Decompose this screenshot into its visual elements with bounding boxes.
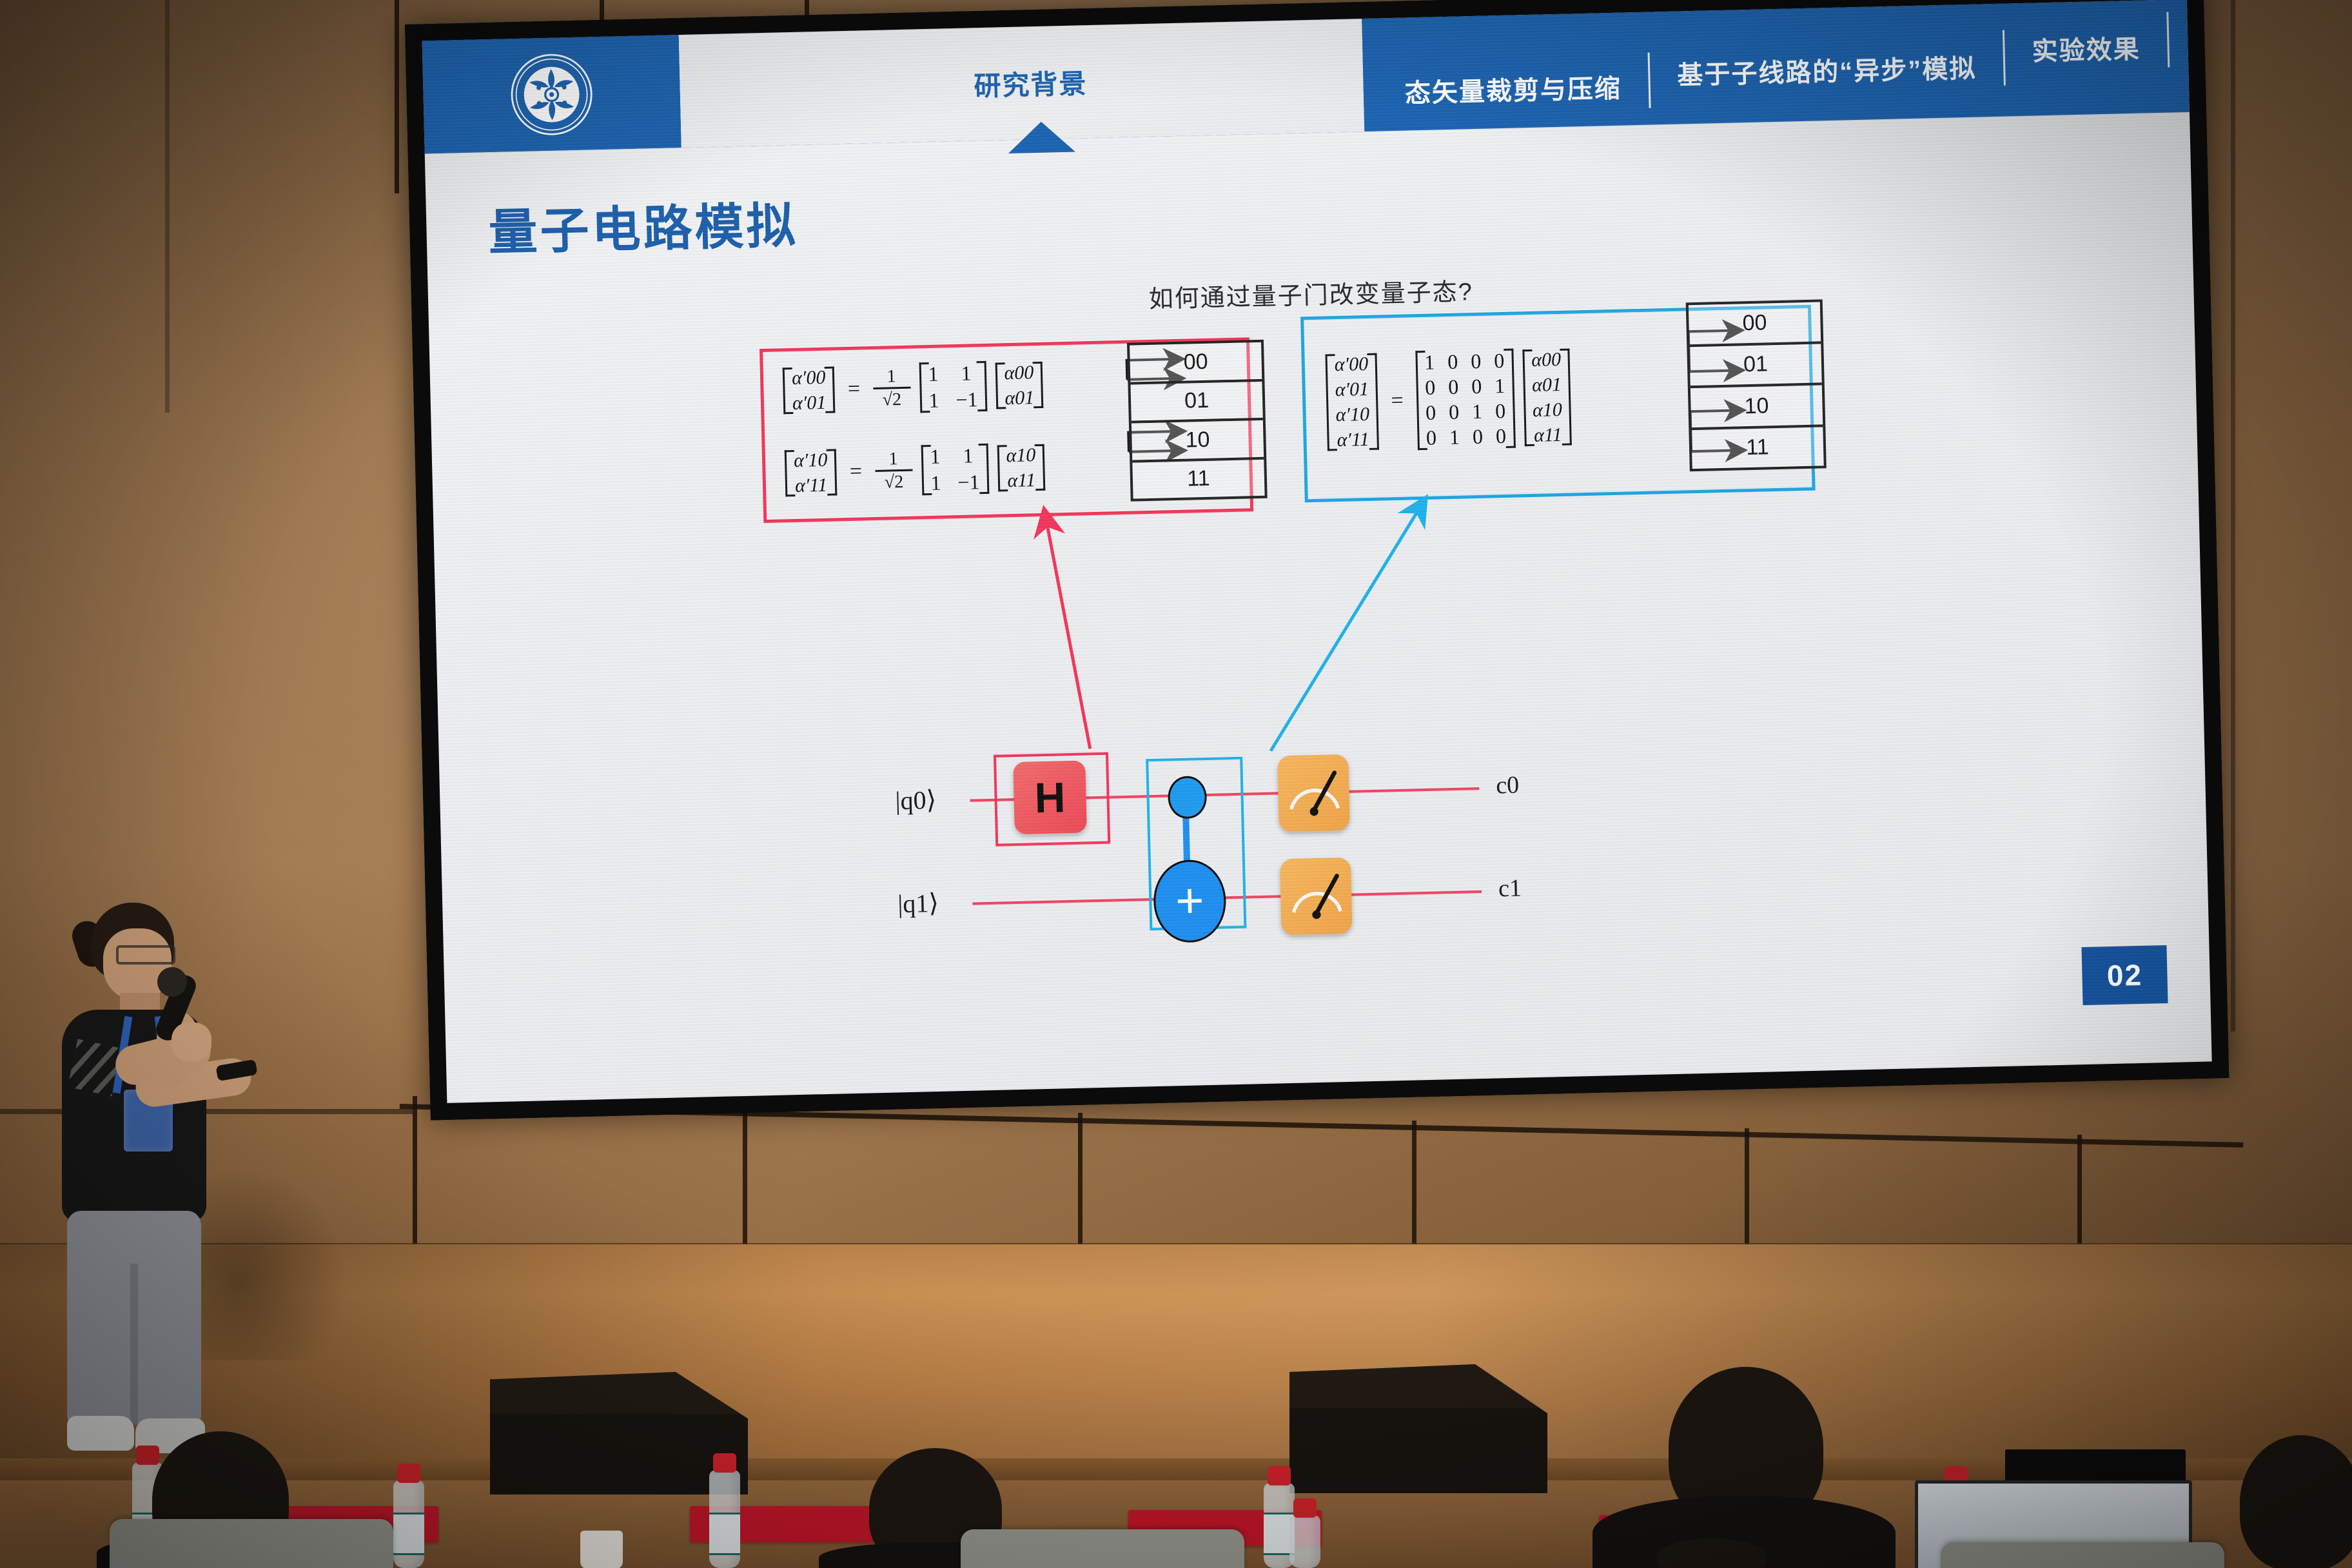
matrix-cell: 0: [1473, 425, 1484, 449]
presentation-slide: 研究背景 态矢量裁剪与压缩 基于子线路的“异步”模拟 实验效果 未来工作展望 量…: [422, 0, 2212, 1103]
fraction-denominator: √2: [884, 471, 903, 492]
bottle-cap: [713, 1453, 736, 1473]
wall-panel-seam: [165, 0, 170, 413]
matrix-cell: −1: [955, 387, 978, 412]
wall-panel-seam: [1412, 1121, 1416, 1262]
alpha-prime-01: α′01: [1335, 378, 1369, 400]
hadamard-gate[interactable]: H: [1013, 760, 1087, 834]
rhs-vector: α00 α01: [995, 362, 1043, 409]
classical-reg-c0-label: c0: [1496, 771, 1520, 800]
slide-nav-tabs: 态矢量裁剪与压缩 基于子线路的“异步”模拟 实验效果 未来工作展望: [1369, 0, 2190, 132]
bottle-label: [393, 1513, 424, 1555]
presenter-leg-gap: [130, 1264, 138, 1425]
water-bottle: [393, 1480, 424, 1568]
matrix-cell: 0: [1425, 376, 1436, 400]
state-row: 10: [1690, 385, 1823, 429]
fraction-denominator: √2: [882, 389, 901, 409]
matrix-cell: 0: [1426, 426, 1437, 449]
bottle-cap: [397, 1464, 420, 1483]
one-over-sqrt-two: 1 √2: [872, 367, 910, 409]
alpha-prime-11: α′11: [1337, 429, 1369, 451]
alpha-prime-01: α′01: [792, 392, 827, 414]
hadamard-matrix: 1 1 1 −1: [921, 444, 989, 495]
alpha-00: α00: [1004, 362, 1034, 384]
qubit-0-label: |q0⟩: [895, 785, 937, 816]
alpha-prime-00: α′00: [1334, 353, 1368, 375]
matrix-cell: 1: [1494, 374, 1505, 398]
equals-sign: =: [845, 459, 866, 484]
fraction-numerator: 1: [887, 367, 896, 387]
projection-screen: 研究背景 态矢量裁剪与压缩 基于子线路的“异步”模拟 实验效果 未来工作展望 量…: [405, 0, 2229, 1121]
water-bottle: [1289, 1515, 1320, 1568]
state-row: 10: [1132, 420, 1264, 462]
matrix-cell: −1: [957, 470, 980, 495]
cnot-matrix: 1 0 0 0 0 0 0 1 0 0 1 0 0: [1415, 349, 1516, 451]
qubit-1-label: |q1⟩: [897, 888, 939, 919]
alpha-00: α00: [1531, 349, 1562, 371]
equals-sign: =: [843, 377, 864, 402]
presenter-hand: [171, 1023, 211, 1061]
matrix-cell: 1: [963, 444, 974, 467]
alpha-01: α01: [1532, 374, 1562, 396]
lhs-vector: α′00 α′01: [783, 366, 836, 414]
alpha-11: α11: [1534, 424, 1562, 446]
state-row: 01: [1689, 344, 1821, 388]
state-row: 11: [1132, 459, 1264, 498]
hadamard-gate-label: H: [1034, 772, 1066, 822]
matrix-cell: 0: [1471, 349, 1482, 373]
bottle-cap: [136, 1445, 159, 1465]
fraction-numerator: 1: [888, 450, 898, 469]
wall-panel-seam: [1078, 1113, 1083, 1261]
slide-title: 量子电路模拟: [487, 186, 798, 264]
water-bottle: [709, 1470, 740, 1568]
presenter: [39, 903, 251, 1464]
measure-gate-q0[interactable]: [1277, 754, 1350, 832]
chair-back: [1941, 1542, 2224, 1568]
presenter-shoe: [67, 1416, 134, 1451]
alpha-10: α10: [1533, 399, 1563, 421]
state-row: 01: [1130, 381, 1262, 423]
meter-icon: [1277, 754, 1350, 832]
active-tab-caret-icon: [1008, 121, 1075, 153]
meter-icon: [1280, 857, 1353, 936]
classical-reg-c1-label: c1: [1498, 874, 1522, 903]
matrix-cell: 0: [1448, 375, 1459, 399]
alpha-prime-00: α′00: [792, 367, 826, 389]
alpha-11: α11: [1007, 469, 1035, 491]
chair-back: [961, 1529, 1244, 1568]
lhs-vector: α′10 α′11: [785, 449, 838, 496]
chair-back: [110, 1519, 393, 1568]
bottle-cap: [1293, 1498, 1317, 1518]
rhs-vector: α00 α01 α10 α11: [1522, 349, 1572, 447]
cas-emblem-icon: [508, 51, 595, 138]
rhs-vector: α10 α11: [997, 444, 1045, 492]
institution-logo-block: [422, 35, 681, 153]
matrix-cell: 0: [1471, 375, 1482, 398]
hadamard-state-table: 00 01 10 11: [1127, 340, 1268, 502]
matrix-cell: 1: [930, 445, 941, 469]
active-tab-label: 研究背景: [974, 62, 1088, 104]
matrix-cell: 0: [1447, 350, 1458, 374]
alpha-prime-10: α′10: [1335, 404, 1369, 426]
matrix-cell: 0: [1426, 400, 1436, 424]
quantum-circuit-diagram: |q0⟩ |q1⟩ H +: [890, 725, 1798, 939]
glasses-icon: [116, 945, 175, 965]
tab-state-vector-pruning[interactable]: 态矢量裁剪与压缩: [1377, 29, 1650, 148]
matrix-cell: 1: [930, 471, 941, 495]
alpha-prime-11: α′11: [795, 475, 828, 496]
state-row: 00: [1130, 342, 1262, 384]
microphone-head: [157, 967, 187, 997]
matrix-cell: 1: [1424, 351, 1435, 375]
cnot-plus-label: +: [1175, 884, 1205, 919]
wall-panel-seam: [743, 1104, 747, 1259]
photo-scene: 研究背景 态矢量裁剪与压缩 基于子线路的“异步”模拟 实验效果 未来工作展望 量…: [0, 0, 2352, 1568]
alpha-prime-10: α′10: [794, 449, 828, 471]
matrix-cell: 0: [1494, 349, 1505, 373]
matrix-cell: 1: [928, 389, 939, 413]
matrix-cell: 0: [1495, 399, 1506, 423]
matrix-cell: 1: [928, 362, 939, 386]
alpha-10: α10: [1006, 444, 1036, 466]
alpha-01: α01: [1004, 387, 1035, 409]
tab-experiment-results[interactable]: 实验效果: [2004, 0, 2169, 106]
paper-cup: [580, 1531, 623, 1568]
measure-gate-q1[interactable]: [1280, 857, 1353, 936]
state-row: 11: [1691, 427, 1823, 469]
slide-page-badge: 02: [2081, 945, 2168, 1005]
wall-panel-seam: [395, 0, 399, 193]
matrix-cell: 1: [961, 361, 972, 385]
tab-subcircuit-async-simulation[interactable]: 基于子线路的“异步”模拟: [1649, 9, 2004, 130]
matrix-cell: 0: [1496, 424, 1507, 448]
matrix-cell: 1: [1449, 426, 1460, 449]
audience-head: [2240, 1435, 2352, 1568]
state-row: 00: [1689, 302, 1821, 346]
one-over-sqrt-two: 1 √2: [874, 450, 912, 492]
hadamard-matrix: 1 1 1 −1: [919, 361, 987, 413]
cnot-state-table: 00 01 10 11: [1686, 299, 1827, 471]
bottle-cap: [1268, 1466, 1291, 1485]
matrix-cell: 1: [1472, 400, 1483, 424]
matrix-cell: 0: [1449, 400, 1460, 424]
bottle-label: [709, 1513, 740, 1555]
wall-panel-seam: [413, 1096, 417, 1257]
wall-panel-seam: [2231, 0, 2235, 1032]
lhs-vector: α′00 α′01 α′10 α′11: [1325, 353, 1379, 451]
equals-sign: =: [1387, 389, 1407, 414]
